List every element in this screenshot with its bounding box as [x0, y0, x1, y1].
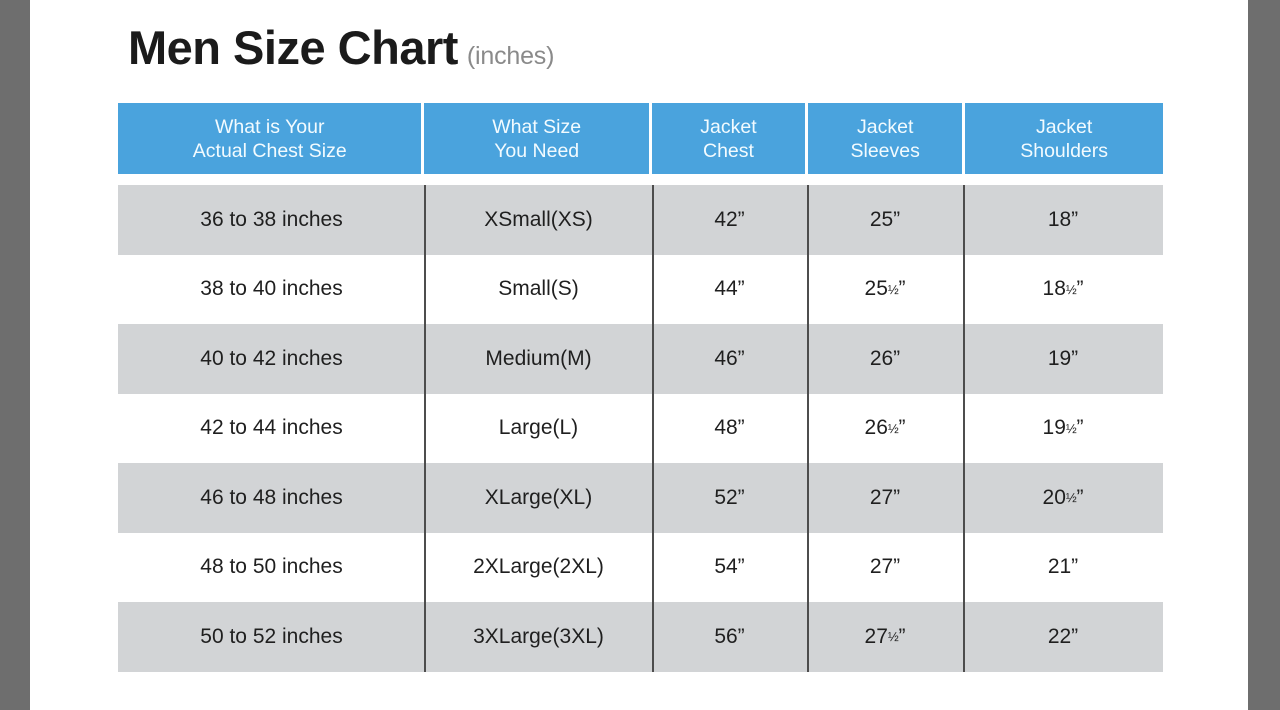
column-header-line1: Jacket	[700, 115, 756, 139]
table-row: 46 to 48 inchesXLarge(XL)52”27”20½”	[118, 463, 1163, 533]
cell-actual-chest-size: 38 to 40 inches	[118, 255, 425, 325]
cell-actual-chest-size: 46 to 48 inches	[118, 463, 425, 533]
cell-jacket-shoulders: 18½”	[963, 255, 1163, 325]
size-chart-table: What is Your Actual Chest Size What Size…	[118, 103, 1163, 672]
column-header-actual-chest-size: What is Your Actual Chest Size	[118, 103, 421, 174]
table-row: 48 to 50 inches2XLarge(2XL)54”27”21”	[118, 533, 1163, 603]
column-header-line2: Actual Chest Size	[193, 139, 347, 163]
table-row: 40 to 42 inchesMedium(M)46”26”19”	[118, 324, 1163, 394]
cell-jacket-chest: 54”	[652, 533, 807, 603]
cell-size-you-need: Small(S)	[425, 255, 652, 325]
cell-size-you-need: Medium(M)	[425, 324, 652, 394]
cell-jacket-sleeves: 27”	[807, 463, 963, 533]
cell-size-you-need: Large(L)	[425, 394, 652, 464]
cell-jacket-sleeves: 26”	[807, 324, 963, 394]
cell-jacket-shoulders: 19½”	[963, 394, 1163, 464]
table-row: 50 to 52 inches3XLarge(3XL)56”27½”22”	[118, 602, 1163, 672]
table-body: 36 to 38 inchesXSmall(XS)42”25”18”38 to …	[118, 185, 1163, 672]
page-title-main: Men Size Chart	[128, 20, 458, 75]
table-row: 36 to 38 inchesXSmall(XS)42”25”18”	[118, 185, 1163, 255]
page-title: Men Size Chart (inches)	[128, 20, 554, 75]
half-fraction-glyph: ½	[1066, 490, 1077, 505]
column-header-line2: Chest	[703, 139, 754, 163]
cell-jacket-shoulders: 20½”	[963, 463, 1163, 533]
half-fraction-glyph: ½	[888, 282, 899, 297]
cell-jacket-sleeves: 27”	[807, 533, 963, 603]
half-fraction-glyph: ½	[888, 421, 899, 436]
column-header-size-you-need: What Size You Need	[424, 103, 648, 174]
column-header-line2: Shoulders	[1020, 139, 1108, 163]
cell-jacket-shoulders: 21”	[963, 533, 1163, 603]
cell-size-you-need: 3XLarge(3XL)	[425, 602, 652, 672]
cell-jacket-shoulders: 19”	[963, 324, 1163, 394]
column-header-line1: Jacket	[857, 115, 913, 139]
half-fraction-glyph: ½	[1066, 282, 1077, 297]
cell-jacket-chest: 42”	[652, 185, 807, 255]
letterbox-bar-right	[1248, 0, 1280, 710]
cell-jacket-sleeves: 26½”	[807, 394, 963, 464]
table-row: 42 to 44 inchesLarge(L)48”26½”19½”	[118, 394, 1163, 464]
cell-jacket-chest: 56”	[652, 602, 807, 672]
cell-jacket-chest: 48”	[652, 394, 807, 464]
cell-jacket-shoulders: 18”	[963, 185, 1163, 255]
column-header-jacket-shoulders: Jacket Shoulders	[965, 103, 1163, 174]
page-title-unit: (inches)	[467, 42, 554, 71]
column-header-line2: Sleeves	[850, 139, 919, 163]
cell-jacket-chest: 46”	[652, 324, 807, 394]
cell-size-you-need: XSmall(XS)	[425, 185, 652, 255]
chart-page: Men Size Chart (inches) What is Your Act…	[30, 0, 1248, 710]
cell-jacket-sleeves: 25½”	[807, 255, 963, 325]
column-header-line1: What Size	[492, 115, 581, 139]
half-fraction-glyph: ½	[888, 629, 899, 644]
cell-actual-chest-size: 42 to 44 inches	[118, 394, 425, 464]
cell-actual-chest-size: 40 to 42 inches	[118, 324, 425, 394]
cell-jacket-sleeves: 27½”	[807, 602, 963, 672]
column-header-jacket-chest: Jacket Chest	[652, 103, 805, 174]
cell-size-you-need: XLarge(XL)	[425, 463, 652, 533]
cell-jacket-chest: 44”	[652, 255, 807, 325]
cell-jacket-chest: 52”	[652, 463, 807, 533]
column-header-jacket-sleeves: Jacket Sleeves	[808, 103, 962, 174]
letterbox-bar-left	[0, 0, 30, 710]
half-fraction-glyph: ½	[1066, 421, 1077, 436]
column-header-line1: Jacket	[1036, 115, 1092, 139]
cell-jacket-sleeves: 25”	[807, 185, 963, 255]
column-header-line1: What is Your	[215, 115, 324, 139]
column-header-line2: You Need	[494, 139, 579, 163]
cell-actual-chest-size: 50 to 52 inches	[118, 602, 425, 672]
cell-actual-chest-size: 36 to 38 inches	[118, 185, 425, 255]
cell-actual-chest-size: 48 to 50 inches	[118, 533, 425, 603]
size-chart-canvas: Men Size Chart (inches) What is Your Act…	[0, 0, 1280, 710]
cell-size-you-need: 2XLarge(2XL)	[425, 533, 652, 603]
table-header-row: What is Your Actual Chest Size What Size…	[118, 103, 1163, 174]
table-row: 38 to 40 inchesSmall(S)44”25½”18½”	[118, 255, 1163, 325]
cell-jacket-shoulders: 22”	[963, 602, 1163, 672]
